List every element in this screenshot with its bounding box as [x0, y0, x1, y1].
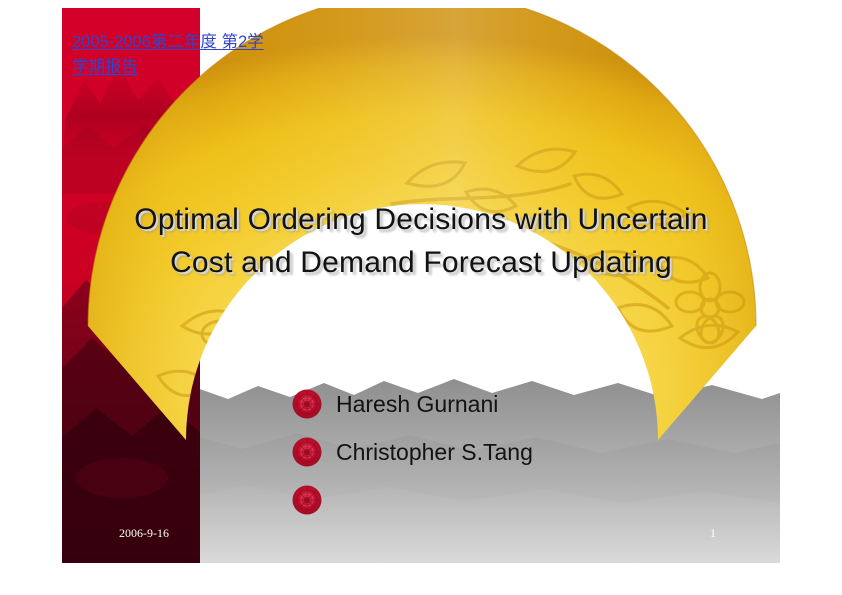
red-rosette-bullet-icon — [292, 485, 322, 515]
red-rosette-bullet-icon — [292, 389, 322, 419]
title-line-2: Cost and Demand Forecast Updating — [62, 241, 780, 284]
title-line-1: Optimal Ordering Decisions with Uncertai… — [62, 198, 780, 241]
author-name: Haresh Gurnani — [336, 393, 498, 416]
author-row: Christopher S.Tang — [292, 428, 533, 476]
author-row: Haresh Gurnani — [292, 380, 533, 428]
author-row — [292, 476, 533, 524]
slide-title: Optimal Ordering Decisions with Uncertai… — [62, 198, 780, 284]
author-name: Christopher S.Tang — [336, 441, 533, 464]
slide-date: 2006-9-16 — [119, 526, 169, 541]
red-rosette-bullet-icon — [292, 437, 322, 467]
author-list: Haresh Gurnani Christopher S.Tang — [292, 380, 533, 524]
slide-canvas: Optimal Ordering Decisions with Uncertai… — [62, 8, 780, 563]
slide-page-number: 1 — [710, 526, 716, 541]
report-heading: 2005-2006第二年度 第2学 学期报告 — [72, 30, 372, 80]
